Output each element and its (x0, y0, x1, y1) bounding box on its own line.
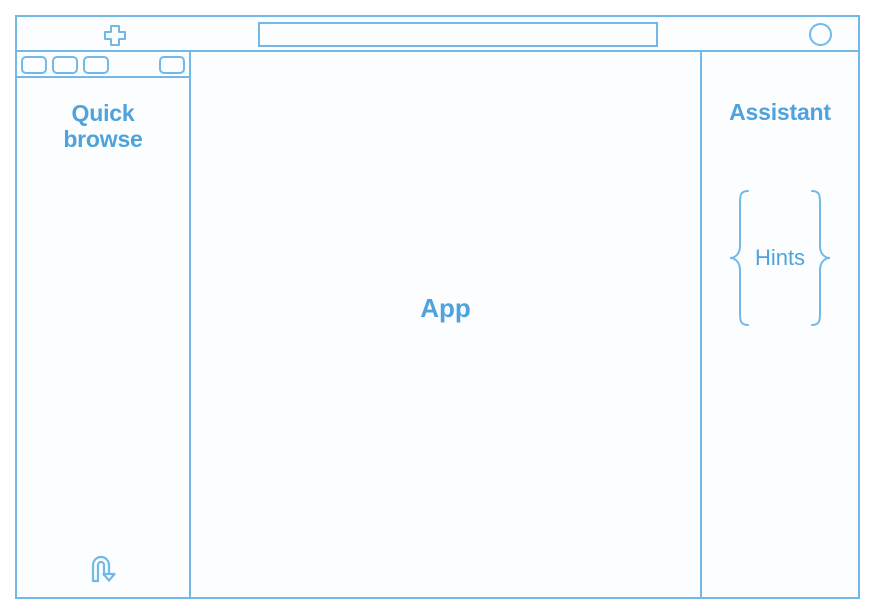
circle-avatar-icon[interactable] (809, 23, 832, 46)
app-window: Quick browse App Assistant (15, 15, 860, 599)
app-label: App (420, 293, 471, 324)
hints-block: Hints (702, 188, 858, 328)
left-curly-brace-icon (727, 188, 753, 328)
assistant-title: Assistant (702, 99, 858, 126)
assistant-panel: Assistant Hints (702, 52, 858, 597)
top-header-bar (17, 17, 858, 52)
u-turn-arrow-icon[interactable] (86, 552, 120, 584)
tab-button-3[interactable] (83, 56, 109, 74)
sidebar-tab-strip (17, 52, 189, 78)
search-input[interactable] (258, 22, 658, 47)
hints-label: Hints (753, 245, 807, 271)
window-body: Quick browse App Assistant (17, 52, 858, 597)
tab-button-1[interactable] (21, 56, 47, 74)
sidebar-title-line-1: Quick (27, 100, 179, 126)
tab-button-2[interactable] (52, 56, 78, 74)
tab-button-4[interactable] (159, 56, 185, 74)
quick-browse-sidebar: Quick browse (17, 52, 191, 597)
app-content-panel[interactable]: App (191, 52, 702, 597)
sidebar-title-line-2: browse (27, 126, 179, 152)
plus-icon[interactable] (100, 24, 130, 46)
sidebar-title: Quick browse (27, 100, 179, 153)
sidebar-footer (17, 552, 189, 589)
right-curly-brace-icon (807, 188, 833, 328)
